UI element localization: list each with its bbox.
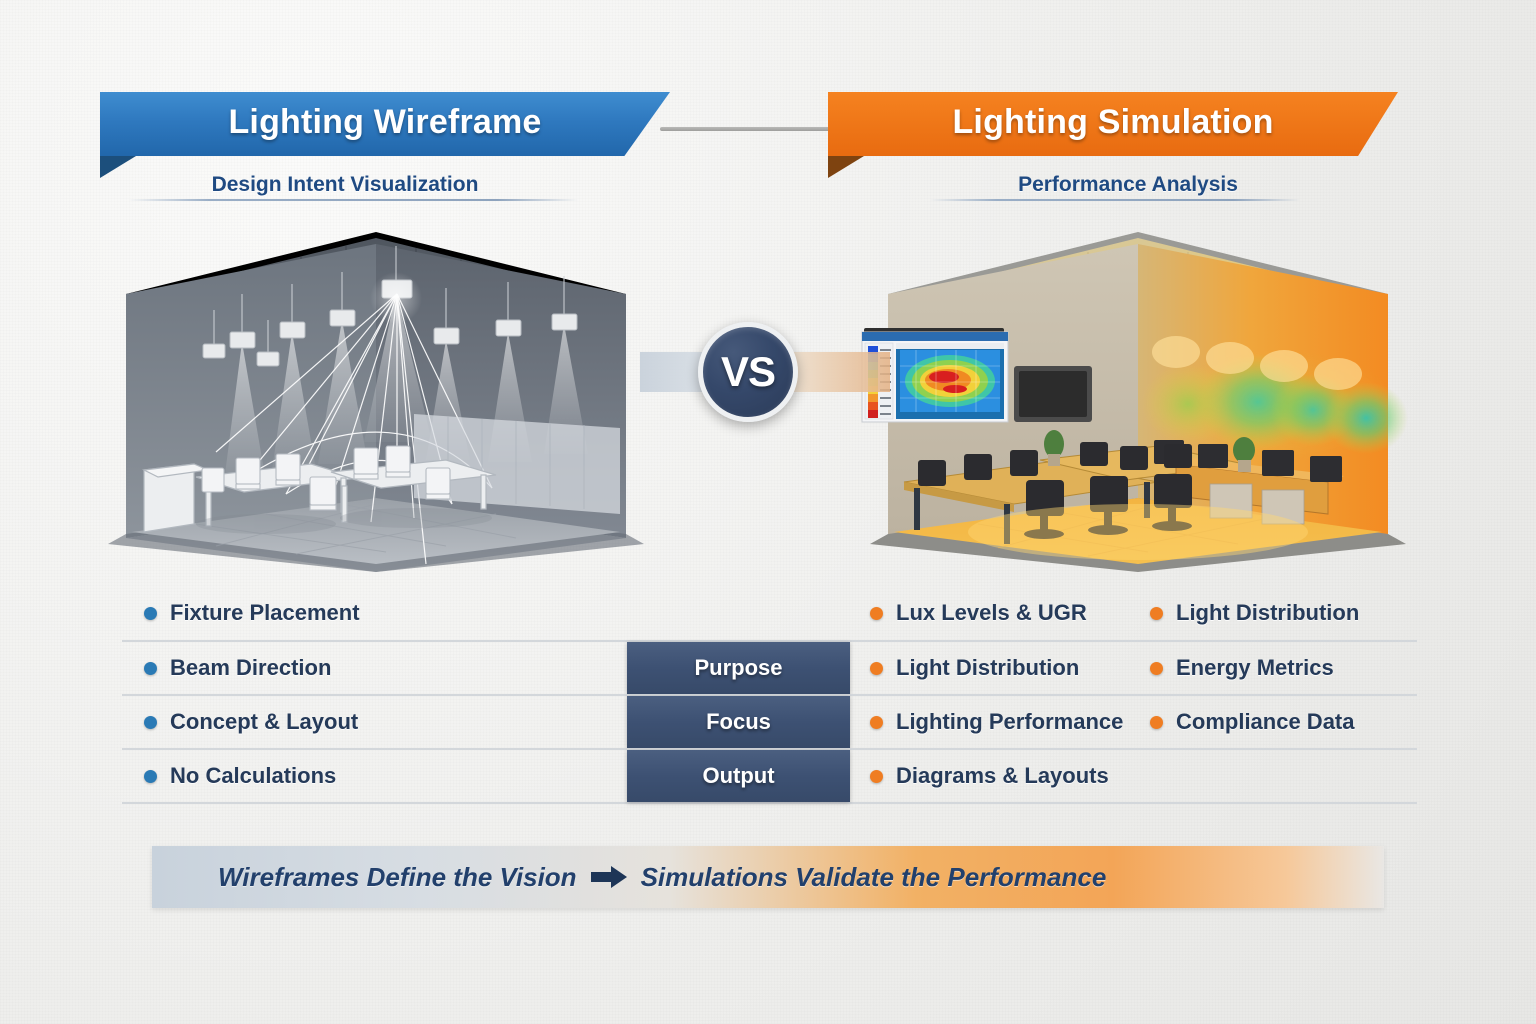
row-right-cell-a: Lighting Performance	[850, 696, 1140, 748]
banner-lighting-wireframe: Lighting Wireframe	[100, 92, 670, 156]
simulation-item-label: Energy Metrics	[1176, 655, 1334, 681]
bullet-orange-icon	[1150, 716, 1163, 729]
banner-left-title: Lighting Wireframe	[228, 103, 541, 145]
table-row: Fixture Placement Lux Levels & UGR Light…	[122, 586, 1417, 640]
subtitle-right-rule	[930, 199, 1300, 201]
bullet-blue-icon	[144, 607, 157, 620]
infographic-canvas: Lighting Wireframe Lighting Simulation D…	[0, 0, 1536, 1024]
bullet-orange-icon	[870, 716, 883, 729]
simulation-item-label: Lux Levels & UGR	[896, 600, 1087, 626]
footer-left-text: Wireframes Define the Vision	[218, 862, 577, 893]
simulation-item-label: Diagrams & Layouts	[896, 763, 1109, 789]
row-middle-cell: Focus	[627, 696, 850, 748]
arrow-right-icon	[591, 866, 627, 888]
bullet-orange-icon	[870, 662, 883, 675]
row-right-cell-b	[1140, 750, 1405, 802]
table-row: No Calculations Output Diagrams & Layout…	[122, 748, 1417, 802]
simulation-item-label: Lighting Performance	[896, 709, 1123, 735]
footer-banner: Wireframes Define the Vision Simulations…	[152, 846, 1384, 908]
row-right-cell-b: Compliance Data	[1140, 696, 1405, 748]
bullet-blue-icon	[144, 716, 157, 729]
banner-connector-line	[660, 127, 840, 131]
wireframe-item-label: Fixture Placement	[170, 600, 360, 626]
subtitle-right: Performance Analysis	[928, 170, 1328, 200]
subtitle-left-rule	[128, 199, 578, 201]
row-right-cell-b: Light Distribution	[1140, 586, 1405, 640]
bullet-orange-icon	[1150, 662, 1163, 675]
row-right-cell-a: Diagrams & Layouts	[850, 750, 1140, 802]
banner-right-title: Lighting Simulation	[952, 103, 1273, 145]
vs-badge: VS	[698, 322, 798, 422]
row-left-cell: Beam Direction	[122, 642, 627, 694]
wireframe-item-label: Concept & Layout	[170, 709, 358, 735]
simulation-item-label: Compliance Data	[1176, 709, 1355, 735]
row-left-cell: Concept & Layout	[122, 696, 627, 748]
row-right-cell-b: Energy Metrics	[1140, 642, 1405, 694]
footer-right-text: Simulations Validate the Performance	[641, 862, 1107, 893]
row-left-cell: No Calculations	[122, 750, 627, 802]
criterion-label-focus: Focus	[627, 696, 850, 748]
wireframe-room-illustration	[96, 232, 656, 572]
wireframe-item-label: Beam Direction	[170, 655, 331, 681]
simulation-item-label: Light Distribution	[1176, 600, 1359, 626]
simulation-item-label: Light Distribution	[896, 655, 1079, 681]
table-row: Beam Direction Purpose Light Distributio…	[122, 640, 1417, 694]
banner-right-fold	[828, 156, 864, 178]
bullet-orange-icon	[870, 770, 883, 783]
table-row: Concept & Layout Focus Lighting Performa…	[122, 694, 1417, 748]
criterion-label-purpose: Purpose	[627, 642, 850, 694]
bullet-blue-icon	[144, 770, 157, 783]
simulation-room-illustration	[858, 232, 1418, 572]
bullet-orange-icon	[870, 607, 883, 620]
bullet-blue-icon	[144, 662, 157, 675]
comparison-table: Fixture Placement Lux Levels & UGR Light…	[122, 586, 1417, 804]
subtitle-left: Design Intent Visualization	[110, 170, 580, 200]
vs-badge-label: VS	[721, 348, 775, 396]
row-middle-cell: Purpose	[627, 642, 850, 694]
banner-lighting-simulation: Lighting Simulation	[828, 92, 1398, 156]
row-middle-cell	[627, 586, 850, 640]
criterion-label-output: Output	[627, 750, 850, 802]
row-middle-cell: Output	[627, 750, 850, 802]
wireframe-item-label: No Calculations	[170, 763, 336, 789]
row-right-cell-a: Lux Levels & UGR	[850, 586, 1140, 640]
bullet-orange-icon	[1150, 607, 1163, 620]
footer-content: Wireframes Define the Vision Simulations…	[152, 862, 1106, 893]
row-left-cell: Fixture Placement	[122, 586, 627, 640]
row-right-cell-a: Light Distribution	[850, 642, 1140, 694]
